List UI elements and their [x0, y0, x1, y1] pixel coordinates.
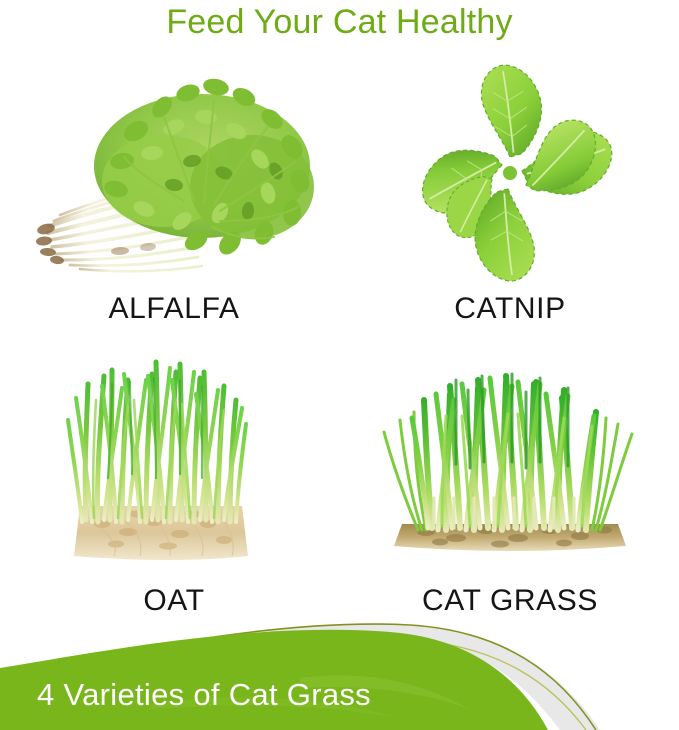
product-grid: ALFALFA: [0, 56, 679, 626]
product-cell-alfalfa: ALFALFA: [8, 56, 340, 326]
product-cell-catgrass: CAT GRASS: [345, 328, 675, 618]
product-cell-oat: OAT: [8, 328, 340, 618]
product-caption-catgrass: CAT GRASS: [422, 584, 598, 618]
oat-grass-icon: [8, 328, 340, 578]
product-caption-alfalfa: ALFALFA: [109, 292, 240, 326]
product-caption-oat: OAT: [143, 584, 204, 618]
catnip-leaves-icon: [345, 61, 675, 286]
banner-wave-shape: [0, 618, 679, 730]
alfalfa-sprouts-icon: [8, 61, 340, 286]
product-cell-catnip: CATNIP: [345, 56, 675, 326]
cat-grass-icon: [345, 328, 675, 578]
page-title: Feed Your Cat Healthy: [0, 2, 679, 42]
product-caption-catnip: CATNIP: [454, 292, 565, 326]
promo-image-root: Feed Your Cat Healthy: [0, 0, 679, 730]
bottom-banner: 4 Varieties of Cat Grass: [0, 618, 679, 730]
banner-title: 4 Varieties of Cat Grass: [37, 678, 371, 712]
